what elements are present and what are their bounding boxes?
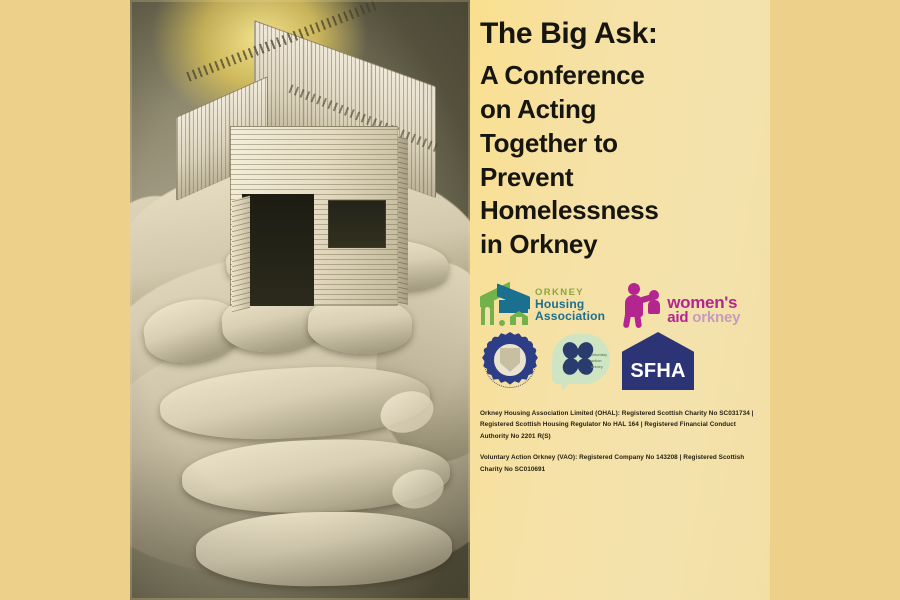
logo-row-one: ORKNEY Housing Association [480, 282, 754, 328]
blue-house-body [499, 300, 528, 313]
vao-wordmark: voluntary action orkney [591, 352, 611, 370]
womens-aid-orkney-text: orkney [692, 309, 740, 326]
orkney-islands-council-logo [480, 332, 540, 390]
hands-holding-house-photo [130, 0, 470, 600]
logo-row-two: voluntary action orkney SFHA [480, 332, 754, 390]
womens-aid-line-2: aid orkney [667, 311, 740, 326]
vao-line-2: action [591, 359, 602, 363]
sfha-label: SFHA [622, 360, 694, 383]
registration-fineprint: Orkney Housing Association Limited (OHAL… [480, 408, 754, 475]
photo-edge [130, 0, 470, 600]
green-house-right-door [516, 317, 522, 325]
poster-page: The Big Ask: A Conference on Acting Toge… [0, 0, 900, 600]
oha-line-2: Housing [535, 298, 605, 310]
adult-leg-left [623, 313, 632, 329]
oha-line-3: Association [535, 310, 605, 322]
poster-headline: The Big Ask: [480, 18, 754, 49]
green-dot [499, 320, 505, 326]
womens-aid-orkney-logo: women's aid orkney [619, 282, 740, 328]
subheading-line-2: on Acting [480, 93, 754, 127]
subheading-line-1: A Conference [480, 59, 754, 93]
womens-aid-wordmark: women's aid orkney [667, 295, 740, 328]
partner-logos: ORKNEY Housing Association [480, 282, 754, 390]
womens-aid-aid-text: aid [667, 309, 688, 326]
voluntary-action-orkney-logo: voluntary action orkney [550, 332, 612, 390]
orkney-housing-association-logo: ORKNEY Housing Association [480, 283, 605, 327]
orkney-housing-association-wordmark: ORKNEY Housing Association [535, 288, 605, 322]
vao-line-3: orkney [591, 365, 603, 369]
adult-and-child-icon [619, 282, 665, 328]
poster-text-panel: The Big Ask: A Conference on Acting Toge… [470, 0, 770, 600]
fineprint-paragraph-2: Voluntary Action Orkney (VAO): Registere… [480, 452, 754, 475]
green-house-left-door [485, 307, 490, 325]
subheading-line-3: Together to [480, 127, 754, 161]
child-body-shape [648, 300, 660, 314]
subheading-line-4: Prevent [480, 161, 754, 195]
child-head-shape [649, 290, 659, 300]
subheading-line-6: in Orkney [480, 228, 754, 262]
fineprint-paragraph-1: Orkney Housing Association Limited (OHAL… [480, 408, 754, 442]
adult-head-shape [628, 283, 640, 295]
conference-poster: The Big Ask: A Conference on Acting Toge… [130, 0, 770, 600]
vao-line-1: voluntary [591, 353, 607, 357]
poster-subheading: A Conference on Acting Together to Preve… [480, 59, 754, 262]
houses-icon [480, 283, 530, 327]
subheading-line-5: Homelessness [480, 194, 754, 228]
sfha-logo: SFHA [622, 332, 694, 390]
